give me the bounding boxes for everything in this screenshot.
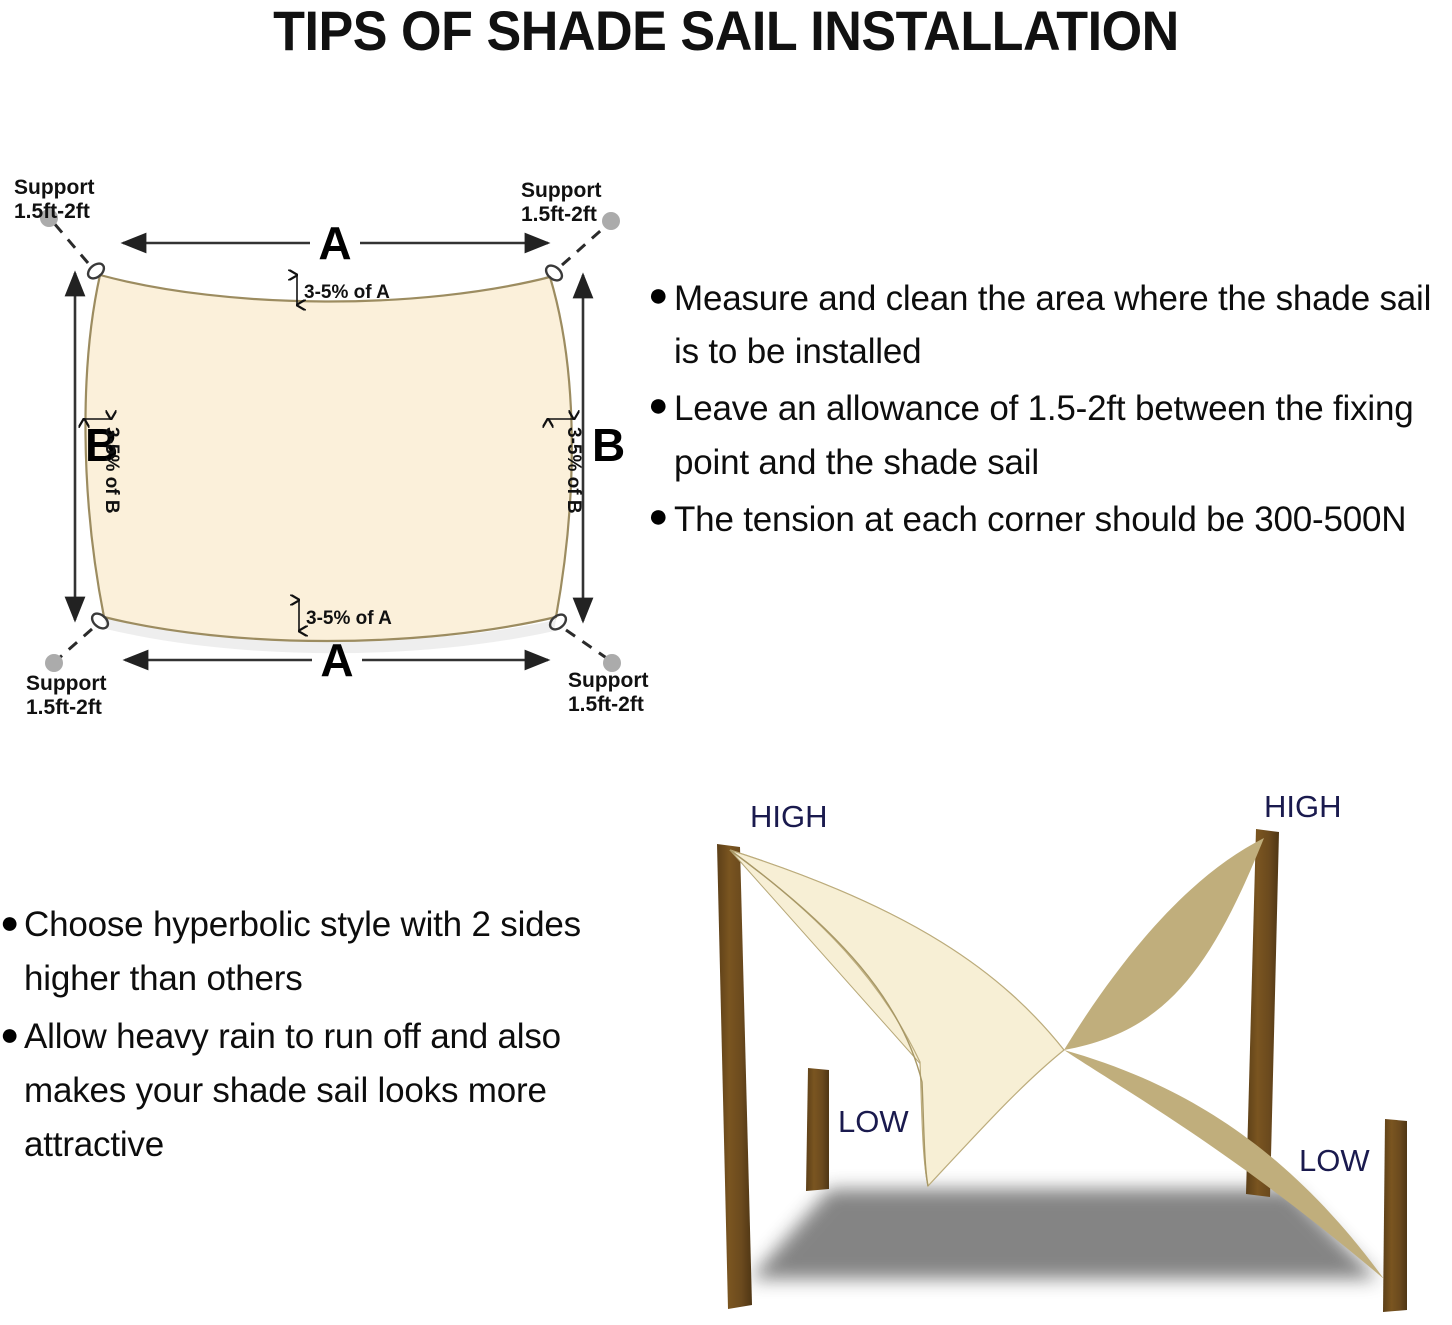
tip-text: Leave an allowance of 1.5-2ft between th…	[674, 382, 1452, 488]
tip-text: Choose hyperbolic style with 2 sides hig…	[24, 898, 634, 1006]
label-low-bottom-left: LOW	[838, 1104, 909, 1139]
support-label-top-left-line1: Support	[14, 176, 94, 199]
support-label-top-right-line2: 1.5ft-2ft	[521, 203, 597, 226]
rectangular-shade-sail-dimension-diagram: Support 1.5ft-2ft Support 1.5ft-2ft Supp…	[0, 165, 660, 725]
list-item: ● The tension at each corner should be 3…	[648, 493, 1452, 546]
support-label-bottom-right-line2: 1.5ft-2ft	[568, 693, 644, 716]
label-low-bottom-right: LOW	[1299, 1143, 1370, 1178]
list-item: ● Leave an allowance of 1.5-2ft between …	[648, 382, 1452, 488]
bullet-icon: ●	[648, 272, 674, 312]
bullet-icon: ●	[0, 1010, 24, 1050]
support-dot-top-right	[602, 212, 620, 230]
list-item: ● Choose hyperbolic style with 2 sides h…	[0, 898, 634, 1006]
dim-label-b-right: B	[592, 419, 625, 471]
dim-label-a-top: A	[318, 217, 351, 269]
support-line-bottom-left	[58, 629, 92, 659]
support-label-bottom-left-line2: 1.5ft-2ft	[26, 696, 102, 719]
hyperbolic-shade-sail-illustration: HIGH HIGH LOW LOW	[672, 782, 1452, 1325]
label-high-top-left: HIGH	[750, 799, 828, 834]
list-item: ● Measure and clean the area where the s…	[648, 272, 1452, 378]
ground-shadow	[750, 1189, 1378, 1279]
support-label-bottom-left-line1: Support	[26, 672, 106, 695]
tips-list-installation: ● Measure and clean the area where the s…	[648, 272, 1452, 550]
list-item: ● Allow heavy rain to run off and also m…	[0, 1010, 634, 1172]
sag-label-b-right: 3-5% of B	[563, 427, 584, 514]
label-high-top-right: HIGH	[1264, 789, 1342, 824]
post-high-left	[717, 844, 752, 1309]
support-label-top-right-line1: Support	[521, 179, 601, 202]
support-line-top-right	[562, 225, 607, 265]
dim-label-a-bottom: A	[320, 634, 353, 686]
sag-label-a-top: 3-5% of A	[304, 282, 390, 303]
shade-sail-body	[85, 275, 571, 641]
support-line-bottom-right	[566, 630, 608, 659]
bullet-icon: ●	[0, 898, 24, 938]
sag-label-a-bottom: 3-5% of A	[306, 608, 392, 629]
tip-text: The tension at each corner should be 300…	[674, 493, 1452, 546]
support-label-bottom-right-line1: Support	[568, 669, 648, 692]
post-low-left	[806, 1068, 829, 1191]
page-title: TIPS OF SHADE SAIL INSTALLATION	[51, 2, 1401, 59]
support-dot-bottom-left	[45, 654, 63, 672]
bullet-icon: ●	[648, 382, 674, 422]
tip-text: Allow heavy rain to run off and also mak…	[24, 1010, 634, 1172]
support-line-top-left	[53, 222, 88, 263]
sag-label-b-left: 3-5% of B	[101, 427, 122, 514]
support-label-top-left-line2: 1.5ft-2ft	[14, 200, 90, 223]
tips-list-hyperbolic: ● Choose hyperbolic style with 2 sides h…	[0, 898, 634, 1175]
tip-text: Measure and clean the area where the sha…	[674, 272, 1452, 378]
bullet-icon: ●	[648, 493, 674, 533]
post-low-right	[1383, 1119, 1407, 1312]
